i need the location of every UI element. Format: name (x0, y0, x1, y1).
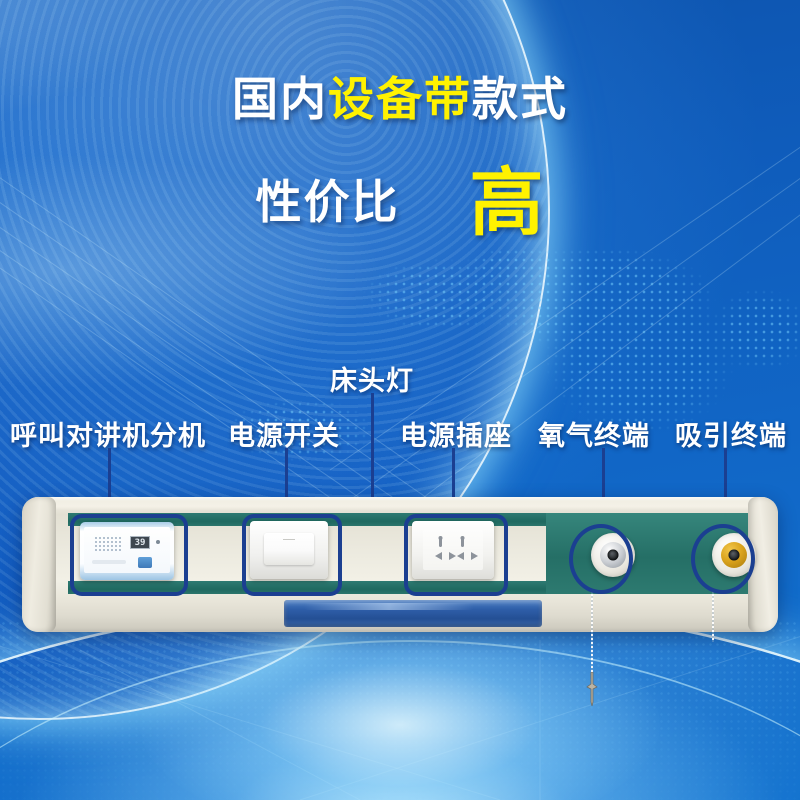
callout-box-power-socket (404, 514, 508, 596)
headline-seg-domestic: 国内 (232, 73, 328, 125)
callout-label-oxygen-terminal: 氧气终端 (538, 414, 650, 453)
headline-seg-value-ratio: 性价比 (256, 176, 400, 228)
suction-pull-cord[interactable] (712, 590, 714, 642)
callout-circle-suction-terminal (691, 524, 755, 594)
panel-end-cap-left (22, 497, 56, 632)
callout-box-power-switch (242, 514, 342, 596)
world-map-dot-pattern-lower (0, 620, 800, 800)
callout-box-call-intercom-extension (70, 514, 188, 596)
horizon-arc-secondary (0, 640, 800, 800)
headline-seg-high: 高 (470, 161, 545, 244)
callout-label-suction-terminal: 吸引终端 (675, 414, 787, 453)
bedside-lamp-highlight (304, 603, 474, 610)
product-banner-image: 国内设备带款式 性价比高 呼叫对讲机分机 电源开关 床头灯 电源插座 氧气终端 … (0, 0, 800, 800)
headline-seg-style: 款式 (472, 73, 568, 125)
headline-line-1: 国内设备带款式 (0, 74, 800, 125)
pull-cord-pendant-icon (585, 672, 599, 706)
headline-block: 国内设备带款式 性价比高 (0, 74, 800, 250)
headline-line-2: 性价比高 (0, 143, 800, 250)
callout-circle-oxygen-terminal (569, 524, 633, 594)
callout-label-power-switch: 电源开关 (228, 414, 340, 453)
headline-seg-equipment-belt: 设备带 (328, 73, 472, 125)
horizon-glow (140, 610, 660, 800)
callout-label-power-socket: 电源插座 (400, 414, 512, 453)
